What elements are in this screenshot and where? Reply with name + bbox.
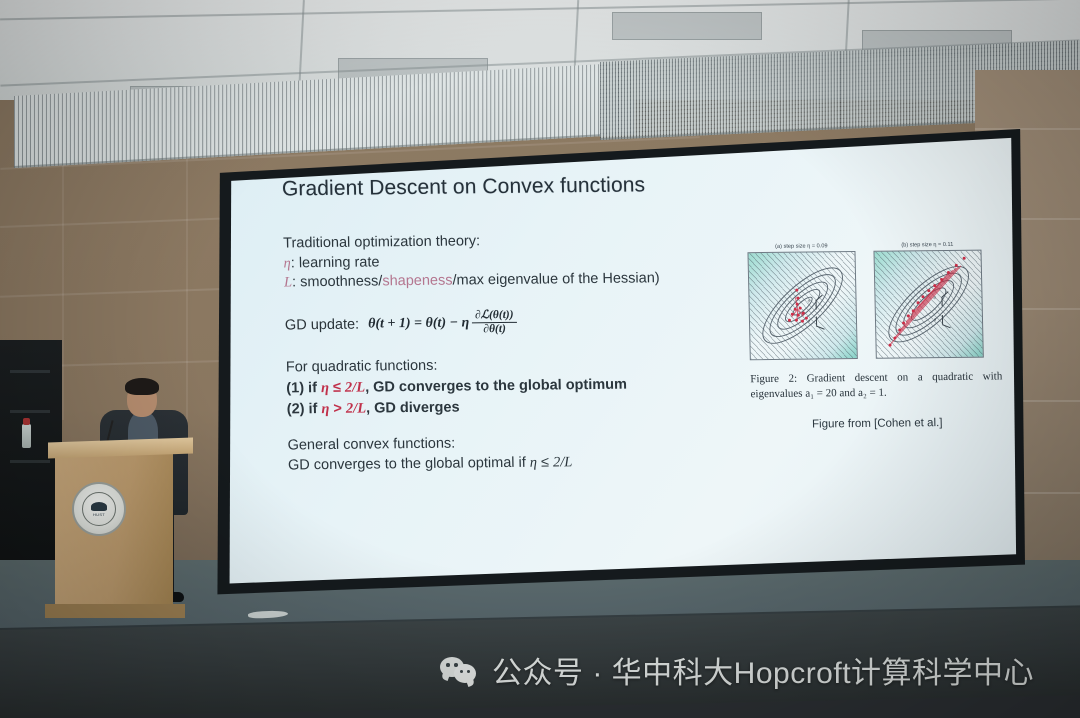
plot-panel-a: θ θ bbox=[747, 251, 857, 360]
figure-plots: θ θ bbox=[747, 249, 1001, 360]
gd-update-row: GD update: θ(t + 1) = θ(t) − η ∂ℒ(θ(t)) … bbox=[285, 307, 716, 339]
water-bottle-cap bbox=[23, 418, 30, 425]
gd-update-label: GD update: bbox=[285, 316, 360, 333]
item2-relation: > bbox=[329, 401, 346, 417]
panel-b-axis-label-2: θ bbox=[934, 317, 936, 322]
subcaption-b: (b) step size η = 0.11 bbox=[873, 242, 981, 249]
projection-screen: Gradient Descent on Convex functions Tra… bbox=[215, 128, 1025, 600]
screen-surface: Gradient Descent on Convex functions Tra… bbox=[215, 128, 1025, 600]
lecture-hall-scene: HUST Gradient Descent on Convex function… bbox=[0, 0, 1080, 718]
fraction-denominator: ∂θ(t) bbox=[480, 323, 509, 337]
presentation-slide: Gradient Descent on Convex functions Tra… bbox=[233, 137, 1028, 576]
wechat-icon bbox=[440, 655, 480, 685]
podium-base bbox=[45, 604, 185, 618]
shapeness-highlight: shapeness bbox=[382, 273, 452, 290]
fraction-numerator: ∂ℒ(θ(t)) bbox=[472, 309, 517, 323]
item1-prefix: (1) if bbox=[286, 381, 321, 397]
panel-a-axis-label-2: θ bbox=[808, 319, 810, 324]
item2-bound: 2/L bbox=[346, 401, 366, 417]
figure-caption: Figure 2: Gradient descent on a quadrati… bbox=[750, 369, 1003, 402]
slide-body-text: Traditional optimization theory: η: lear… bbox=[283, 229, 718, 476]
figure-source: Figure from [Cohen et al.] bbox=[751, 416, 1003, 431]
item1-rest: , GD converges to the global optimum bbox=[365, 377, 627, 396]
wechat-eye-4 bbox=[467, 670, 470, 673]
gd-update-formula: θ(t + 1) = θ(t) − η ∂ℒ(θ(t)) ∂θ(t) bbox=[368, 309, 517, 338]
seal-emblem-icon bbox=[91, 502, 107, 511]
wechat-eye-3 bbox=[460, 670, 463, 673]
plot-panel-b: θ θ bbox=[873, 250, 983, 359]
seal-inner-ring: HUST bbox=[82, 492, 116, 526]
item2-prefix: (2) if bbox=[287, 402, 322, 418]
panel-a-axis-label-1: θ bbox=[807, 299, 809, 304]
item1-relation: ≤ bbox=[329, 380, 345, 396]
item1-bound: 2/L bbox=[345, 380, 365, 396]
watermark: 公众号 · 华中科大Hopcroft计算科学中心 bbox=[440, 648, 1034, 692]
seal-label: HUST bbox=[93, 512, 105, 517]
L-definition-part-b: /max eigenvalue of the Hessian) bbox=[452, 270, 660, 288]
wechat-bubble-small bbox=[454, 664, 476, 683]
formula-fraction: ∂ℒ(θ(t)) ∂θ(t) bbox=[472, 309, 517, 337]
eta-definition-text: : learning rate bbox=[291, 254, 380, 271]
line-general-convex-result: GD converges to the global optimal if η … bbox=[288, 452, 718, 476]
general-relation: ≤ bbox=[537, 455, 553, 471]
formula-lhs: θ(t + 1) = θ(t) − η bbox=[368, 315, 469, 332]
wechat-eye-1 bbox=[446, 663, 450, 667]
speaker-hair bbox=[125, 378, 159, 395]
item2-rest: , GD diverges bbox=[366, 400, 460, 417]
figure-block: (a) step size η = 0.09 (b) step size η =… bbox=[747, 241, 1003, 431]
L-definition-part-a: : smoothness/ bbox=[292, 273, 383, 290]
general-result-text: GD converges to the global optimal if bbox=[288, 455, 530, 474]
slide-title: Gradient Descent on Convex functions bbox=[282, 173, 646, 201]
watermark-text: 公众号 · 华中科大Hopcroft计算科学中心 bbox=[492, 648, 1034, 692]
subcaption-a: (a) step size η = 0.09 bbox=[747, 243, 855, 250]
general-bound: 2/L bbox=[553, 455, 573, 471]
water-bottle bbox=[22, 424, 31, 448]
university-seal: HUST bbox=[72, 482, 126, 536]
